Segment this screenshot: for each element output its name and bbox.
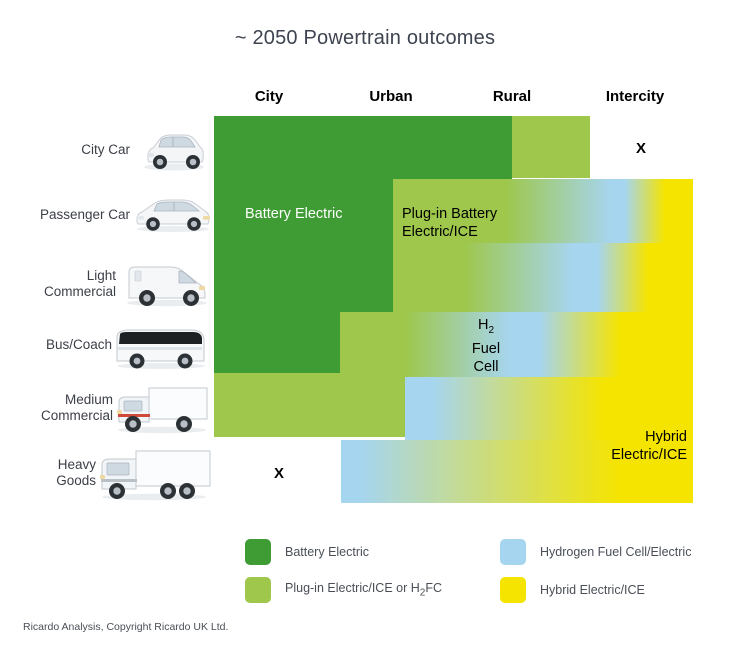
legend-item-plugin: Plug-in Electric/ICE or H2FC	[245, 577, 442, 603]
city-car-icon	[140, 128, 208, 172]
row-light-commercial: Light Commercial	[0, 250, 212, 314]
column-header-city: City	[209, 88, 329, 105]
row-label-medium-commercial: Medium Commercial	[3, 392, 113, 424]
cell-light-commercial-gradient	[393, 243, 693, 312]
region-label-battery-electric: Battery Electric	[245, 205, 343, 223]
semi-truck-icon	[96, 445, 212, 503]
row-bus-coach: Bus/Coach	[0, 315, 212, 377]
region-label-plugin-line2: Electric/ICE	[402, 223, 497, 241]
legend-item-hydrogen: Hydrogen Fuel Cell/Electric	[500, 539, 691, 565]
region-label-h2-line2: Fuel	[436, 340, 536, 358]
passenger-car-icon	[133, 194, 213, 234]
legend-swatch-hybrid	[500, 577, 526, 603]
column-header-intercity: Intercity	[575, 88, 695, 105]
region-label-plugin-battery: Plug-in Battery Electric/ICE	[402, 205, 497, 241]
region-label-battery-electric-text: Battery Electric	[245, 206, 343, 222]
cell-city-car-plugin	[512, 116, 590, 178]
cell-medium-commercial-plugin	[214, 373, 405, 437]
region-label-hybrid-line2: Electric/ICE	[543, 446, 687, 464]
legend-item-battery-electric: Battery Electric	[245, 539, 369, 565]
row-medium-commercial: Medium Commercial	[0, 378, 212, 442]
row-passenger-car: Passenger Car	[0, 182, 212, 244]
column-header-rural: Rural	[452, 88, 572, 105]
legend-item-hybrid: Hybrid Electric/ICE	[500, 577, 645, 603]
row-label-city-car: City Car	[10, 142, 130, 158]
bus-icon	[113, 321, 209, 371]
column-header-urban: Urban	[331, 88, 451, 105]
van-icon	[123, 256, 211, 308]
cell-medium-commercial-hydrogen-gradient	[405, 377, 693, 440]
box-truck-icon	[113, 380, 211, 436]
region-label-h2-line3: Cell	[436, 358, 536, 376]
marker-x-heavy-goods-city: X	[264, 465, 294, 482]
legend-swatch-plugin	[245, 577, 271, 603]
region-label-hybrid-line1: Hybrid	[543, 428, 687, 446]
legend-swatch-battery-electric	[245, 539, 271, 565]
legend-label-plugin: Plug-in Electric/ICE or H2FC	[285, 581, 442, 599]
legend-label-battery-electric: Battery Electric	[285, 545, 369, 559]
legend: Battery Electric Plug-in Electric/ICE or…	[245, 539, 705, 609]
row-label-light-commercial: Light Commercial	[6, 268, 116, 300]
row-label-passenger-car: Passenger Car	[10, 207, 130, 223]
region-label-h2-line1: H2	[436, 316, 536, 340]
legend-swatch-hydrogen	[500, 539, 526, 565]
row-heavy-goods: Heavy Goods	[0, 445, 212, 509]
cell-heavy-goods-hydrogen-hybrid-gradient	[341, 440, 693, 503]
row-label-bus-coach: Bus/Coach	[0, 337, 112, 353]
copyright-footer: Ricardo Analysis, Copyright Ricardo UK L…	[23, 621, 228, 633]
cell-bus-coach-plugin	[340, 312, 405, 437]
region-label-plugin-line1: Plug-in Battery	[402, 205, 497, 223]
row-city-car: City Car	[0, 118, 212, 178]
marker-x-city-car-intercity: X	[626, 140, 656, 157]
region-label-h2-fuel-cell: H2 Fuel Cell	[436, 316, 536, 376]
cell-city-car-battery-electric	[214, 116, 512, 179]
cell-battery-electric-block	[214, 179, 393, 373]
cell-passenger-car-plugin-gradient	[393, 179, 693, 243]
cell-bus-coach-h2-gradient	[405, 312, 693, 377]
row-label-heavy-goods: Heavy Goods	[0, 457, 96, 489]
legend-label-hybrid: Hybrid Electric/ICE	[540, 583, 645, 597]
page-title: ~ 2050 Powertrain outcomes	[0, 27, 730, 50]
legend-label-hydrogen: Hydrogen Fuel Cell/Electric	[540, 545, 691, 559]
region-label-hybrid: Hybrid Electric/ICE	[543, 428, 687, 464]
